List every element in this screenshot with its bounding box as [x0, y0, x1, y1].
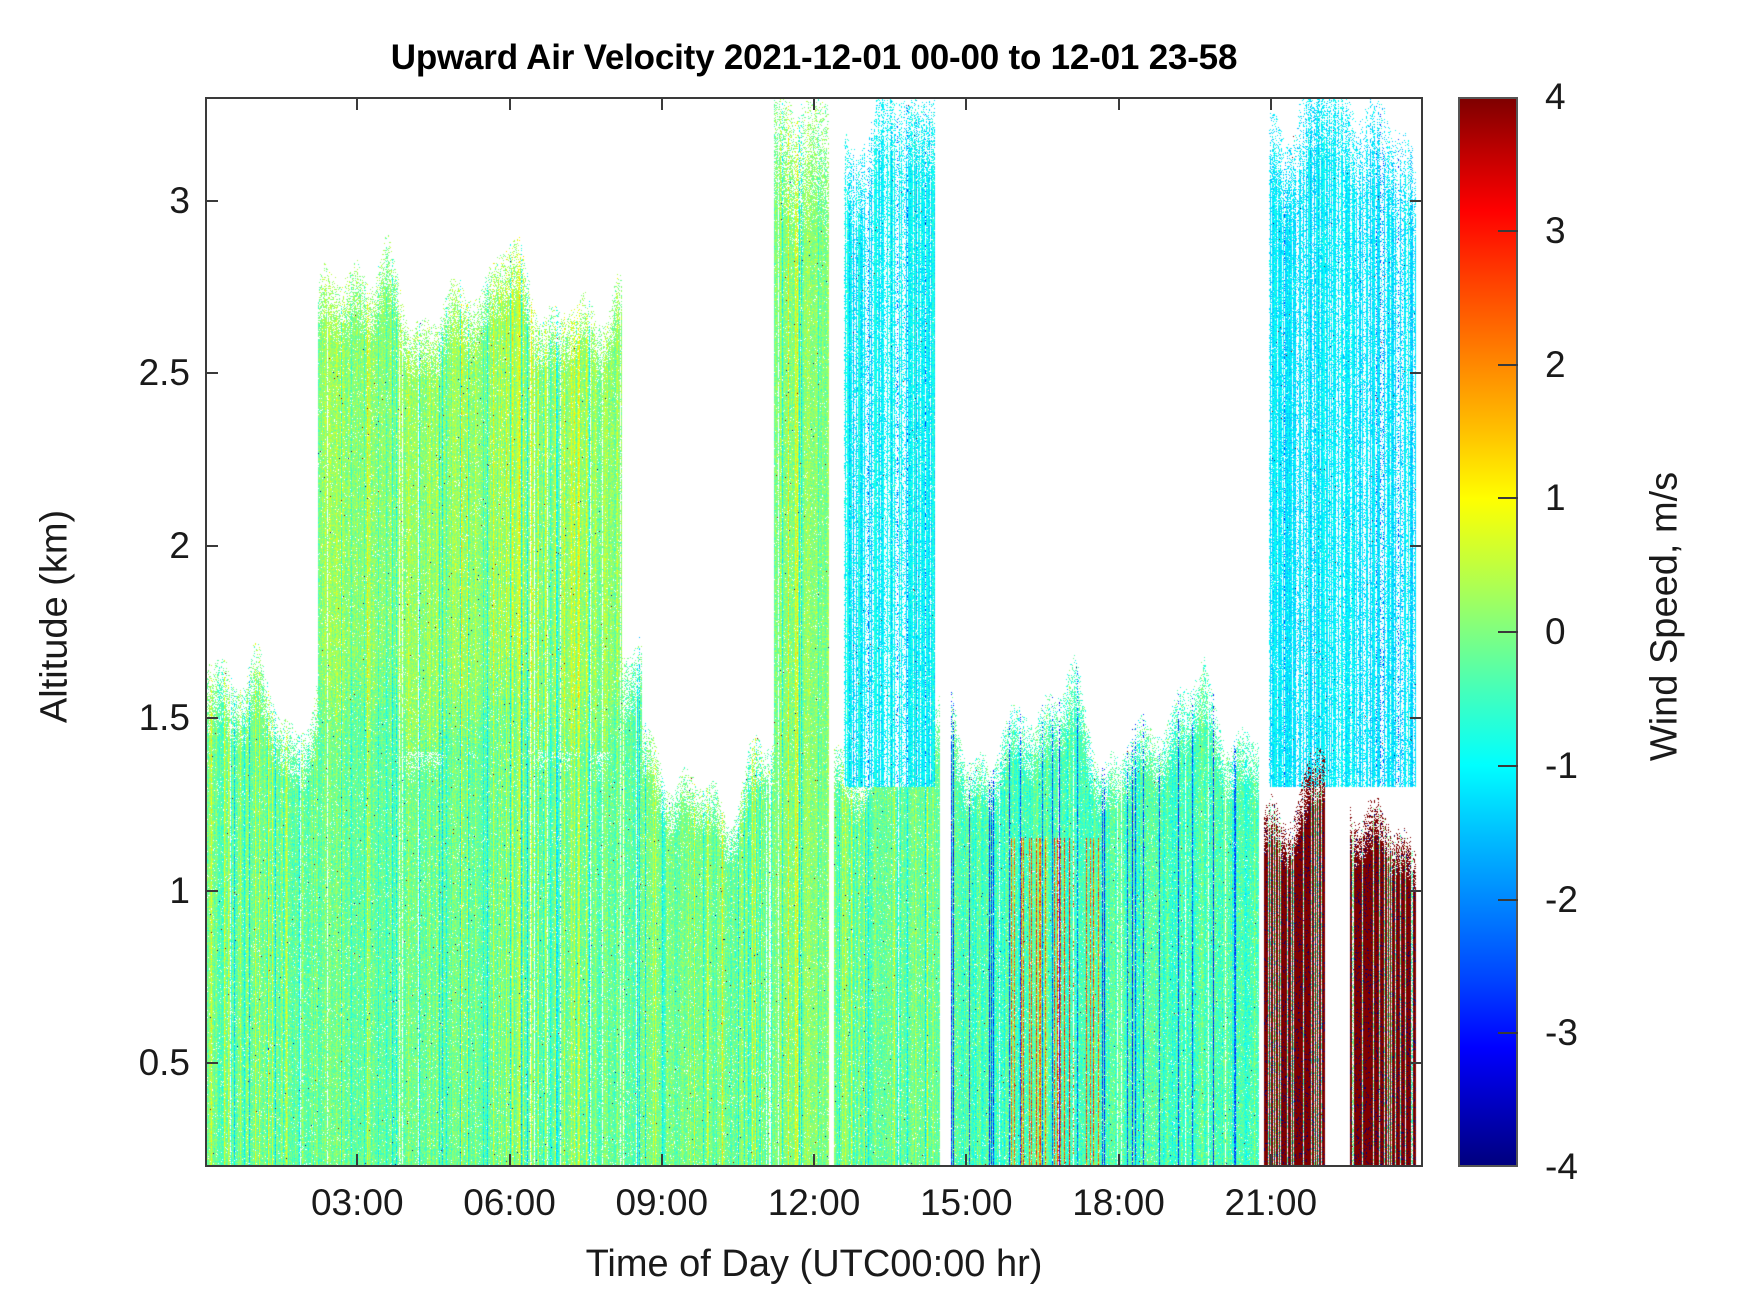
y-tick-mark	[1410, 200, 1423, 202]
y-tick-mark	[205, 717, 218, 719]
y-tick-mark	[205, 200, 218, 202]
x-axis-title: Time of Day (UTC00:00 hr)	[205, 1243, 1423, 1286]
x-tick-mark	[965, 97, 967, 110]
x-tick-label: 21:00	[1181, 1182, 1361, 1224]
y-tick-mark	[1410, 372, 1423, 374]
colorbar-tick-mark	[1498, 765, 1518, 767]
figure-canvas: Upward Air Velocity 2021-12-01 00-00 to …	[0, 0, 1750, 1313]
y-tick-label: 1	[50, 870, 190, 912]
x-tick-mark	[356, 1154, 358, 1167]
colorbar-tick-label: 4	[1545, 76, 1665, 118]
y-tick-label: 2	[50, 525, 190, 567]
page-title: Upward Air Velocity 2021-12-01 00-00 to …	[205, 38, 1423, 78]
y-tick-mark	[205, 372, 218, 374]
x-tick-mark	[1118, 1154, 1120, 1167]
x-tick-mark	[813, 97, 815, 110]
colorbar-tick-mark	[1498, 631, 1518, 633]
y-tick-mark	[1410, 545, 1423, 547]
y-tick-mark	[1410, 1062, 1423, 1064]
x-tick-mark	[1270, 97, 1272, 110]
y-tick-label: 2.5	[50, 352, 190, 394]
y-tick-label: 1.5	[50, 697, 190, 739]
colorbar-title: Wind Speed, m/s	[1644, 297, 1687, 937]
x-tick-mark	[661, 97, 663, 110]
x-tick-mark	[509, 97, 511, 110]
colorbar-tick-label: -4	[1545, 1146, 1665, 1188]
x-tick-mark	[661, 1154, 663, 1167]
x-tick-mark	[1270, 1154, 1272, 1167]
colorbar-tick-label: 3	[1545, 210, 1665, 252]
y-tick-label: 3	[50, 180, 190, 222]
x-tick-mark	[965, 1154, 967, 1167]
y-tick-mark	[205, 1062, 218, 1064]
colorbar-tick-label: -3	[1545, 1012, 1665, 1054]
y-tick-mark	[205, 545, 218, 547]
colorbar-tick-mark	[1498, 364, 1518, 366]
colorbar-tick-mark	[1498, 230, 1518, 232]
colorbar-tick-mark	[1498, 1032, 1518, 1034]
heatmap-plot-area[interactable]	[205, 97, 1423, 1167]
x-tick-mark	[356, 97, 358, 110]
y-tick-label: 0.5	[50, 1042, 190, 1084]
colorbar-tick-mark	[1498, 497, 1518, 499]
y-tick-mark	[1410, 717, 1423, 719]
x-tick-mark	[1118, 97, 1120, 110]
y-tick-mark	[205, 890, 218, 892]
heatmap-canvas	[207, 99, 1421, 1165]
colorbar-tick-mark	[1498, 899, 1518, 901]
y-tick-mark	[1410, 890, 1423, 892]
x-tick-mark	[509, 1154, 511, 1167]
x-tick-mark	[813, 1154, 815, 1167]
